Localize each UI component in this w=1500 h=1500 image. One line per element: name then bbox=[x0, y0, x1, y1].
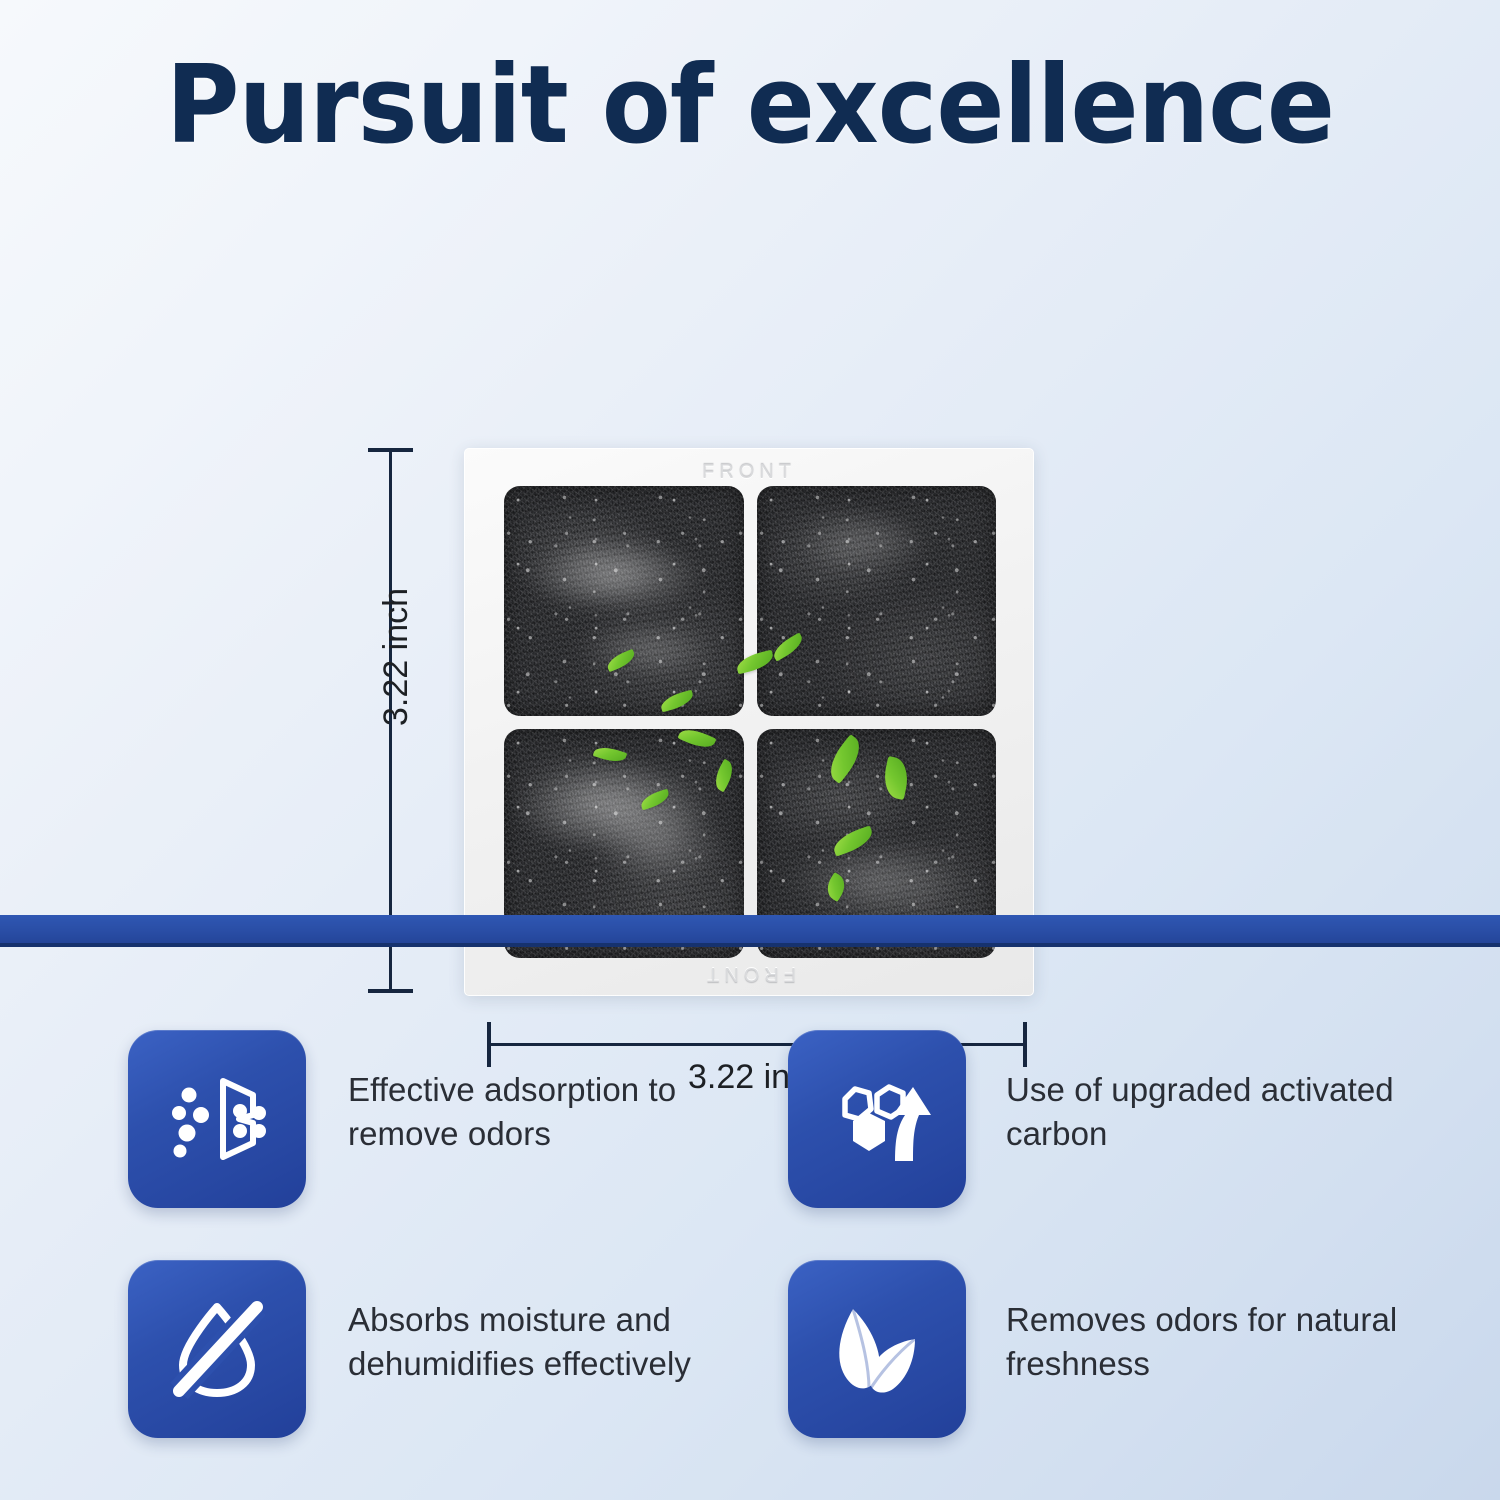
front-label-top: FRONT bbox=[464, 461, 1034, 484]
feature-icon-tile bbox=[788, 1260, 966, 1438]
filter-pane bbox=[757, 486, 997, 716]
feature-label: Removes odors for natural freshness bbox=[1006, 1260, 1448, 1386]
airflow-wisp bbox=[790, 509, 938, 573]
feature-icon-tile bbox=[128, 1030, 306, 1208]
airflow-wisp bbox=[523, 536, 710, 614]
filter-pane bbox=[504, 486, 744, 716]
feature-item: Removes odors for natural freshness bbox=[788, 1260, 1448, 1438]
feature-icon-tile bbox=[788, 1030, 966, 1208]
filter-pane-grid bbox=[504, 486, 996, 958]
height-dimension-label: 3.22 inch bbox=[376, 567, 416, 747]
section-divider bbox=[0, 915, 1500, 947]
carbon-molecule-arrow-icon bbox=[821, 1065, 933, 1173]
page-title: Pursuit of excellence bbox=[53, 52, 1448, 160]
feature-label: Use of upgraded activated carbon bbox=[1006, 1030, 1448, 1156]
feature-list: Effective adsorption to remove odors Use… bbox=[0, 1010, 1500, 1460]
product-filter-image: FRONT bbox=[464, 448, 1034, 996]
airflow-wisp bbox=[590, 797, 729, 889]
feature-item: Use of upgraded activated carbon bbox=[788, 1030, 1448, 1208]
feature-item: Effective adsorption to remove odors bbox=[128, 1030, 748, 1208]
front-label-bottom: FRONT bbox=[464, 962, 1034, 985]
airflow-wisp bbox=[780, 839, 972, 922]
feature-label: Effective adsorption to remove odors bbox=[348, 1030, 748, 1156]
filter-particles-icon bbox=[163, 1065, 271, 1173]
infographic-page: Pursuit of excellence 3.22 inch 3.22 inc… bbox=[0, 0, 1500, 1500]
product-hero: 3.22 inch 3.22 inch FRONT bbox=[0, 200, 1500, 915]
feature-item: Absorbs moisture and dehumidifies effect… bbox=[128, 1260, 748, 1438]
airflow-wisp bbox=[514, 756, 720, 857]
feature-icon-tile bbox=[128, 1260, 306, 1438]
airflow-wisp bbox=[576, 619, 720, 679]
feature-label: Absorbs moisture and dehumidifies effect… bbox=[348, 1260, 748, 1386]
leaves-icon bbox=[823, 1295, 931, 1403]
no-moisture-droplet-icon bbox=[163, 1295, 271, 1403]
